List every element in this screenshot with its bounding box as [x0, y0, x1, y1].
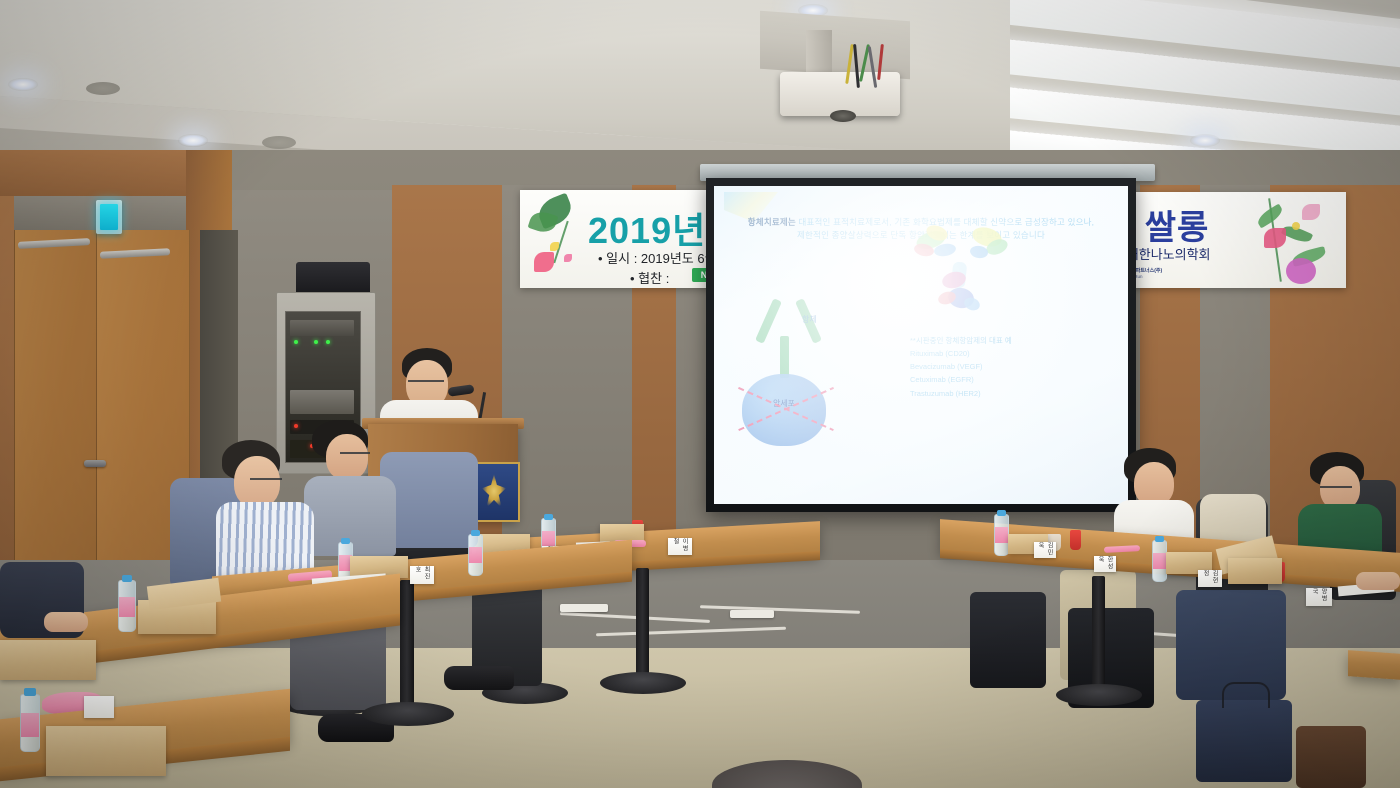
rack-unit: [290, 390, 354, 414]
water-bottle: [468, 534, 483, 576]
table-base: [1056, 684, 1142, 706]
slide-list-item: Cetuximab (EGFR): [910, 373, 1012, 386]
banner-left-line1: • 일시 : 2019년도 6월: [598, 248, 717, 267]
name-card-text: 최진호: [413, 566, 431, 584]
flower-decoration: [564, 254, 572, 262]
table-base: [362, 702, 454, 726]
slide-drug-list: **시판중인 항체항암제의 대표 예 Rituximab (CD20) Beva…: [910, 334, 1012, 400]
rack-unit: [290, 320, 354, 336]
table-pedestal: [636, 568, 649, 680]
flower-decoration: [1264, 228, 1286, 248]
ceiling-vent: [262, 136, 296, 149]
floor-power-strip: [730, 610, 774, 618]
name-card-text: 양병국: [1310, 588, 1328, 606]
bottle-cap: [544, 514, 553, 520]
ceiling-vent: [86, 82, 120, 95]
flower-decoration: [534, 252, 554, 272]
backpack: [970, 592, 1046, 688]
projector-mount-arm: [806, 30, 832, 76]
projector-cables: [846, 44, 898, 98]
attendee-glasses: [1320, 486, 1352, 488]
table-name-card: 이병철: [668, 538, 692, 555]
bottle-label: [21, 713, 39, 737]
wall-wood-panel-left-lower: [0, 196, 14, 616]
bottle-cap: [24, 688, 36, 696]
water-bottle: [20, 694, 40, 752]
water-bottle: [994, 514, 1009, 556]
projection-screen: 항체치료제는 대표적인 표적치료제로서, 기존 화학요법제를 대체할 신약으로 …: [714, 186, 1128, 504]
antibody-ribbon-model: [912, 218, 1016, 320]
table-pedestal: [400, 580, 414, 710]
table-name-card: 김현정: [1198, 570, 1222, 587]
bottle-label: [542, 531, 555, 547]
attendee-glasses: [250, 478, 282, 480]
table-base: [600, 672, 686, 694]
handbag-handle: [1222, 682, 1270, 708]
status-led: [326, 340, 330, 344]
banner-left-line2: • 협찬 :: [630, 268, 669, 287]
status-led: [294, 340, 298, 344]
bottle-cap: [341, 538, 350, 544]
flower-decoration: [550, 242, 559, 251]
antibody-arm-left: [755, 298, 782, 344]
cardboard-lunch-box: [0, 640, 96, 680]
water-bottle: [1152, 540, 1167, 582]
recessed-downlight: [1190, 134, 1220, 147]
name-card-text: 김민욱: [1036, 542, 1054, 558]
table-name-card: 한성욱: [1094, 556, 1116, 572]
table-name-card: [84, 696, 114, 718]
name-card-text: 김현정: [1201, 570, 1219, 587]
attendee-head: [234, 456, 280, 508]
slide-paragraph-bold: 항체치료제는: [748, 217, 796, 227]
flower-decoration: [1292, 222, 1300, 230]
flower-decoration: [1286, 258, 1316, 284]
status-led: [314, 340, 318, 344]
bottle-cap: [997, 510, 1006, 516]
bottle-label: [1153, 553, 1166, 569]
table-name-card: 최진호: [410, 566, 434, 584]
attendee-head: [326, 434, 368, 480]
attendee-left-front-hand: [44, 612, 88, 632]
bottle-label: [469, 547, 482, 563]
floor-power-strip: [560, 604, 608, 612]
name-card-text: 한성욱: [1096, 556, 1114, 572]
name-card-text: 이병철: [671, 538, 689, 555]
exit-icon: [100, 204, 118, 230]
handbag: [1296, 726, 1366, 788]
bottle-label: [995, 527, 1008, 543]
table-name-card: 양병국: [1306, 588, 1332, 606]
projector-lens: [830, 110, 856, 122]
attendee-table-right-far: [1348, 650, 1400, 680]
bottle-cap: [1155, 536, 1164, 542]
recessed-downlight: [8, 78, 38, 91]
door-handle[interactable]: [84, 460, 106, 467]
table-name-card: 김민욱: [1034, 542, 1056, 558]
status-led: [294, 424, 298, 428]
bottle-label: [119, 597, 135, 617]
attendee-right-3-hand: [1356, 572, 1400, 590]
antibody-label: 항체: [802, 314, 817, 325]
flower-decoration: [1302, 204, 1320, 220]
conference-room-photo: 2019년도 • 일시 : 2019년도 6월 • 협찬 : NANO 신 쌀롱…: [0, 0, 1400, 788]
emergency-exit-sign: [96, 200, 122, 234]
antibody-stem: [780, 336, 789, 378]
recessed-downlight: [178, 134, 208, 147]
handbag: [1196, 700, 1292, 782]
cardboard-lunch-box: [46, 726, 166, 776]
cardboard-lunch-box: [1228, 558, 1282, 584]
attendee-left-shoe-2: [444, 666, 514, 690]
slide-list-item: Rituximab (CD20): [910, 347, 1012, 360]
presenter-glasses: [408, 380, 444, 382]
bottle-cap: [471, 530, 480, 536]
slide-list-item: Bevacizumab (VEGF): [910, 360, 1012, 373]
table-pedestal: [1092, 576, 1105, 692]
slide-list-header: **시판중인 항체항암제의 대표 예: [910, 334, 1012, 347]
attendee-glasses: [340, 452, 370, 454]
red-can: [1070, 530, 1081, 550]
water-bottle: [118, 580, 136, 632]
bottle-cap: [122, 575, 132, 582]
slide-list-item: Trastuzumab (HER2): [910, 387, 1012, 400]
